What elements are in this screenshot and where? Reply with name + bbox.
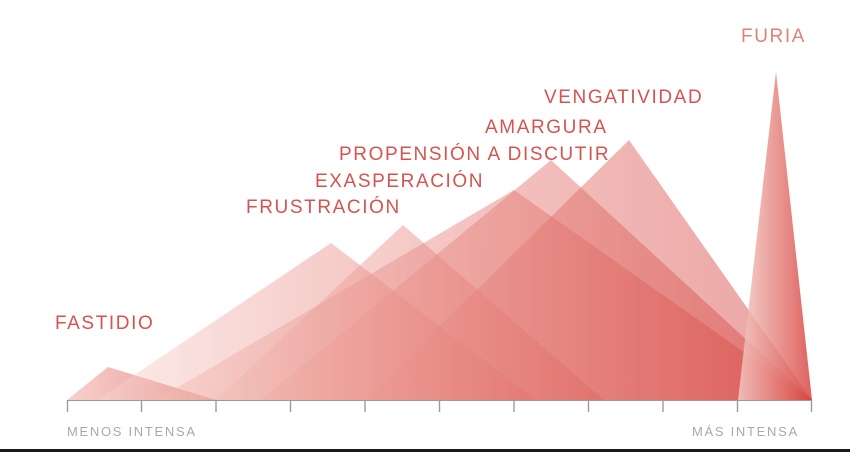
series-label-exasperacion: EXASPERACIÓN [315,172,484,191]
axis-ticks [68,400,812,412]
series-area-furia [738,72,812,400]
series-label-vengatividad: VENGATIVIDAD [544,88,703,107]
series-layer [67,72,812,400]
axis-label-less-intense: MENOS INTENSA [67,425,197,438]
chart-canvas [0,0,850,452]
emotion-intensity-chart: FASTIDIO FRUSTRACIÓN EXASPERACIÓN PROPEN… [0,0,850,452]
series-label-furia: FURIA [741,27,806,46]
series-label-amargura: AMARGURA [485,118,608,137]
axis-layer [67,400,812,412]
axis-label-more-intense: MÁS INTENSA [692,425,799,438]
series-label-propension-a-discutir: PROPENSIÓN A DISCUTIR [339,145,610,164]
series-label-fastidio: FASTIDIO [55,314,154,333]
series-label-frustracion: FRUSTRACIÓN [246,198,401,217]
